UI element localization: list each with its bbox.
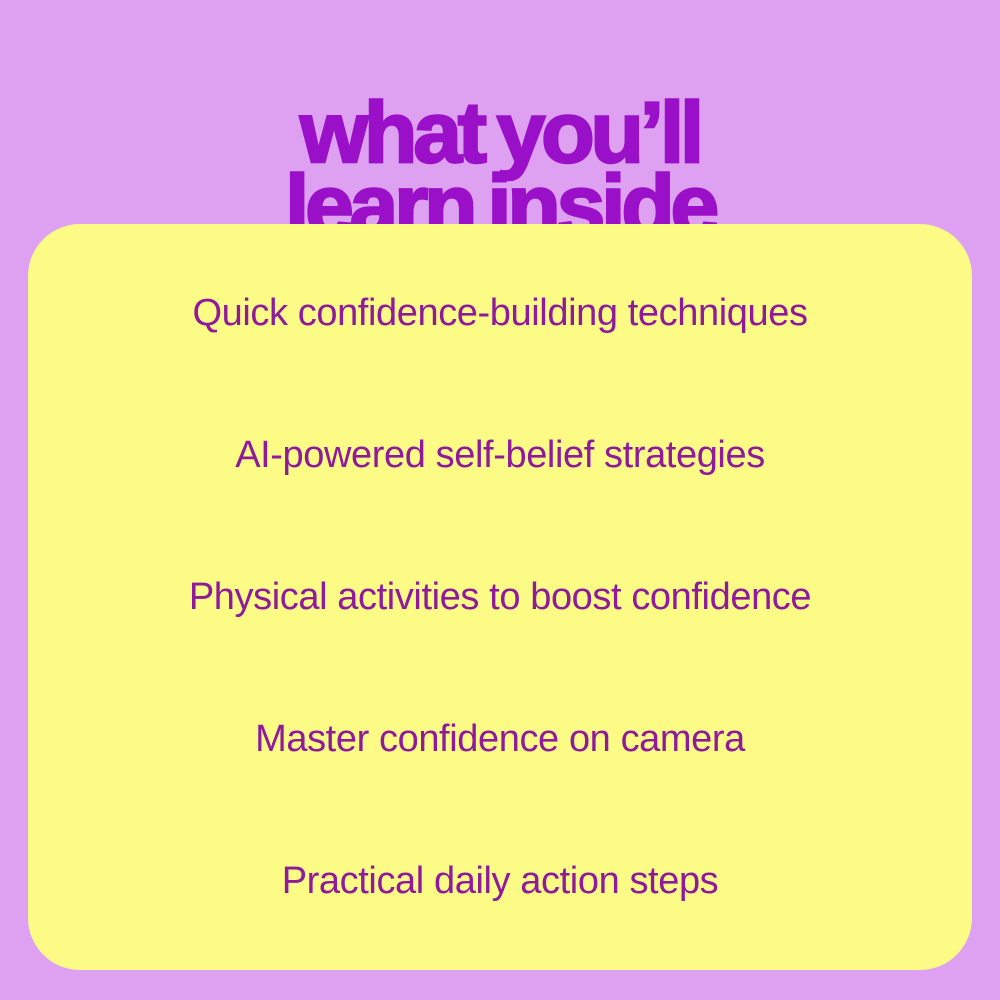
list-item: AI-powered self-belief strategies [62, 384, 938, 526]
list-item: Practical daily action steps [62, 810, 938, 952]
page-title: what you’ll learn inside [0, 96, 1000, 245]
list-item: Quick confidence-building techniques [62, 242, 938, 384]
promo-poster: what you’ll learn inside Quick confidenc… [0, 0, 1000, 1000]
list-item: Master confidence on camera [62, 668, 938, 810]
list-item: Physical activities to boost confidence [62, 526, 938, 668]
benefits-list: Quick confidence-building techniques AI-… [62, 242, 938, 952]
benefits-card: Quick confidence-building techniques AI-… [28, 224, 972, 970]
